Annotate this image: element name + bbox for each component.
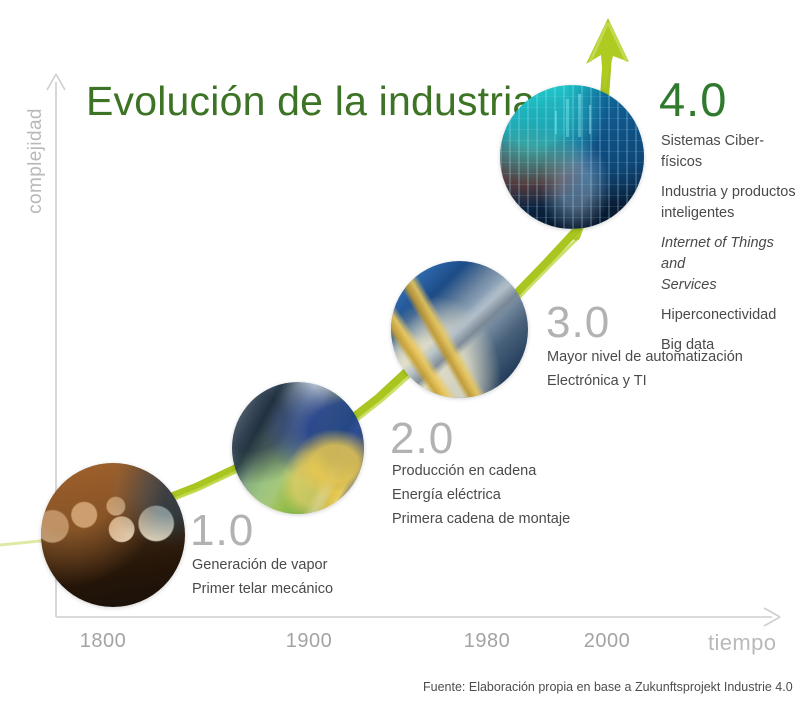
bullet-item: Big data [661, 335, 796, 356]
x-axis [56, 608, 780, 626]
stage-number-2: 2.0 [390, 417, 454, 461]
page-title: Evolución de la industria [86, 78, 535, 125]
steam-gauges-image [41, 463, 185, 607]
bullet-item: Energía eléctrica [392, 485, 652, 506]
stage-number-1: 1.0 [190, 509, 254, 553]
bullet-item: Producción en cadena [392, 461, 652, 482]
x-tick-2000: 2000 [584, 630, 631, 653]
bullet-item: Internet of Things and Services [661, 233, 796, 296]
digital-binary-image [500, 85, 644, 229]
bullet-item: Primera cadena de montaje [392, 509, 652, 530]
source-note: Fuente: Elaboración propia en base a Zuk… [423, 680, 793, 694]
bullet-item: Generación de vapor [192, 555, 432, 576]
bullet-item: Electrónica y TI [547, 371, 800, 392]
bullet-item: Industria y productos inteligentes [661, 182, 796, 224]
cnc-machining-photo [391, 261, 528, 398]
stage-bullets-2: Producción en cadena Energía eléctrica P… [392, 461, 652, 533]
y-axis-label: complejidad [25, 91, 47, 231]
x-tick-1980: 1980 [464, 630, 511, 653]
x-tick-1900: 1900 [286, 630, 333, 653]
assembly-line-image [232, 382, 364, 514]
bullet-item: Hiperconectividad [661, 305, 796, 326]
x-axis-label: tiempo [708, 630, 776, 656]
assembly-line-photo [232, 382, 364, 514]
digital-binary-photo [500, 85, 644, 229]
stage-number-3: 3.0 [546, 301, 610, 345]
infographic-canvas: Evolución de la industria complejidad ti… [0, 0, 800, 705]
stage-bullets-1: Generación de vapor Primer telar mecánic… [192, 555, 432, 603]
steam-gauges-photo [41, 463, 185, 607]
bullet-item: Primer telar mecánico [192, 579, 432, 600]
cnc-machining-image [391, 261, 528, 398]
bullet-item: Sistemas Ciber-físicos [661, 131, 796, 173]
x-tick-1800: 1800 [80, 630, 127, 653]
stage-number-4: 4.0 [659, 76, 727, 123]
stage-bullets-4: Sistemas Ciber-físicos Industria y produ… [661, 131, 796, 356]
